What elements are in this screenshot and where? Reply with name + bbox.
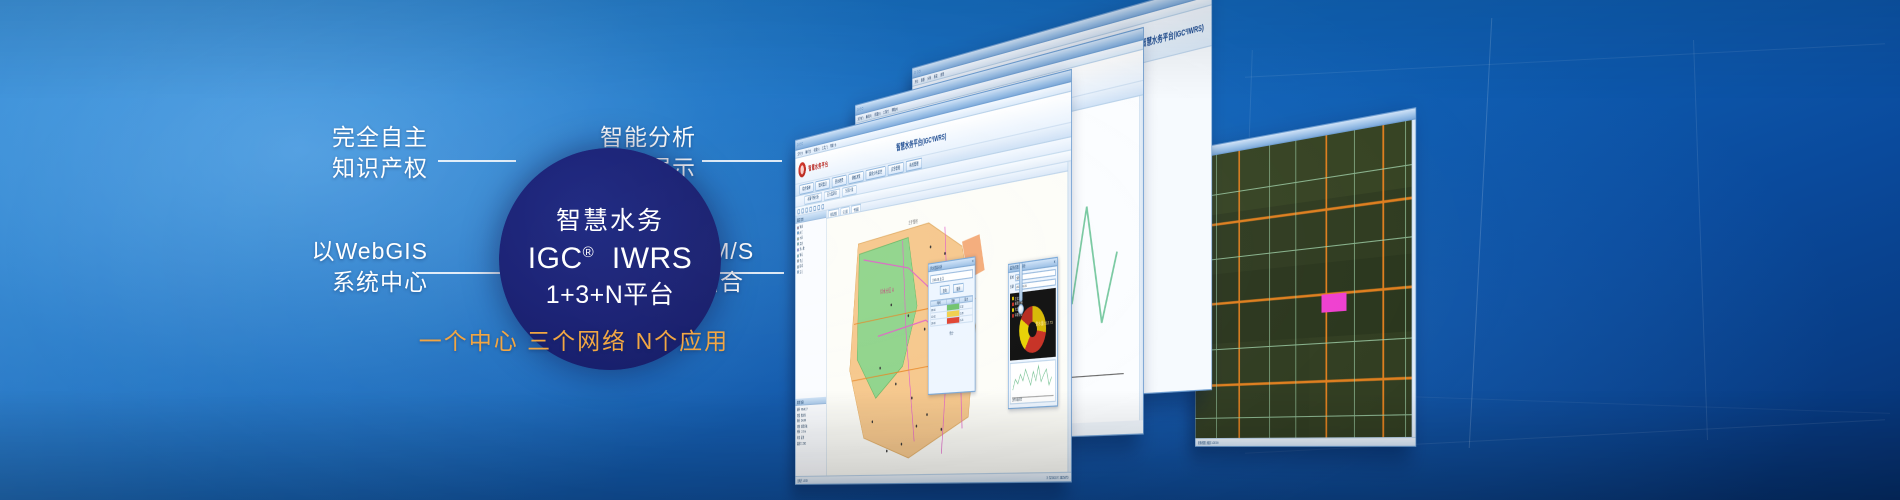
connector-line-top-left — [438, 160, 516, 162]
app-title: 智慧水务平台(IGC²IWRS) — [896, 130, 946, 154]
date-label: 日期 — [1010, 284, 1014, 291]
satellite-imagery — [1196, 119, 1416, 438]
measure-tool-icon[interactable] — [813, 205, 816, 211]
app-title: 智慧水务平台(IGC²IWRS) — [1141, 21, 1204, 50]
workspace: 图层控制 管线 阀门 水表 泵站 消火栓 管段 节点 区域 注记 属性信息 — [795, 161, 1071, 476]
cancel-button[interactable]: 取消 — [953, 283, 963, 293]
registered-mark-icon: ® — [583, 244, 595, 261]
dialog-title: 供水流量分析 — [930, 263, 942, 270]
feature-row1: 以WebGIS — [288, 236, 428, 267]
region-select-label: 区域 — [1010, 274, 1014, 281]
vertical-scrollbar[interactable] — [1139, 95, 1143, 420]
feature-label-top-left: 完全自主 知识产权 — [308, 122, 428, 183]
banner-tagline: 一个中心 三个网络 N个应用 — [364, 322, 784, 356]
menu-item-edit[interactable]: 编辑(E) — [805, 148, 811, 154]
monitoring-chart-dialog[interactable]: 监测点数据分析 ✕ 区域 全部 日期 2017-06-15 — [1008, 256, 1058, 409]
menu-item[interactable]: 文件(F) — [858, 115, 864, 122]
feature-row2: 系统中心 — [288, 267, 428, 298]
satellite-map-window: 影像底图 | 缩放 1:20000 — [1195, 107, 1416, 447]
hub-line-1: 智慧水务 — [556, 206, 664, 237]
identify-tool-icon[interactable] — [817, 204, 820, 210]
ribbon-tab[interactable]: 开始 — [915, 78, 919, 84]
pie-chart-panel: 正常流量 超限流量 欠压报警 停泵记录 供水量 512.73 — [1010, 288, 1056, 361]
select-tool-icon[interactable] — [809, 206, 812, 212]
zoom-out-tool-icon[interactable] — [805, 207, 807, 213]
close-icon[interactable]: ✕ — [1054, 259, 1056, 264]
hub-line-3: 1+3+N平台 — [546, 279, 675, 312]
status-text: 影像底图 | 缩放 1:20000 — [1198, 440, 1218, 445]
trend-chart-panel: 日供水量趋势 — [1010, 359, 1056, 404]
left-panel: 图层控制 管线 阀门 水表 泵站 消火栓 管段 节点 区域 注记 属性信息 — [795, 211, 826, 476]
hub-brand-igc: IGC — [528, 242, 583, 275]
flow-analysis-dialog[interactable]: 供水流量分析 ✕ DMA-01 出口 查询 取消 时间 — [928, 257, 975, 396]
status-bar: 影像底图 | 缩放 1:20000 — [1196, 437, 1416, 446]
dialog-footer: 统计 — [931, 328, 974, 338]
zoom-slider[interactable] — [1019, 261, 1022, 301]
print-tool-icon[interactable] — [822, 203, 825, 209]
flow-data-table: 时间 流量 压力 08:000.32 12:000.28 18:000.21 — [931, 295, 974, 327]
menu-item[interactable]: 工具(T) — [883, 108, 889, 115]
trend-chart-label: 日供水量趋势 — [1012, 397, 1022, 402]
window-controls-icon[interactable] — [857, 107, 863, 112]
vertical-scrollbar[interactable] — [1068, 161, 1072, 471]
marketing-banner: 完全自主 知识产权 以WebGIS 系统中心 智能分析 数据展示 C/S+B/S… — [0, 0, 1900, 500]
map-canvas[interactable]: 管网总图 分区图 专题图 — [827, 162, 1068, 476]
menu-item[interactable]: 编辑(E) — [866, 113, 872, 120]
main-app-window: 文件(F) 编辑(E) 视图(V) 工具(T) 帮助(H) 智慧水务平台 智慧水… — [795, 69, 1072, 485]
feature-row2: 知识产权 — [308, 153, 428, 184]
window-controls-icon[interactable] — [797, 142, 803, 147]
query-button[interactable]: 查询 — [940, 285, 950, 295]
pan-compass-icon[interactable] — [1018, 303, 1024, 314]
logo-text: 智慧水务平台 — [808, 159, 828, 173]
zoom-in-tool-icon[interactable] — [801, 208, 803, 214]
vertical-scrollbar[interactable] — [1412, 119, 1416, 436]
menu-item[interactable]: 帮助(H) — [892, 106, 898, 113]
feature-label-bottom-left: 以WebGIS 系统中心 — [288, 236, 428, 297]
status-coordinates: X: 523418 Y: 3825470 — [1046, 475, 1068, 480]
connector-line-top-right — [702, 160, 782, 162]
layer-tree[interactable]: 管线 阀门 水表 泵站 消火栓 管段 节点 区域 注记 — [795, 218, 826, 399]
ribbon-tab[interactable]: 设置 — [940, 71, 944, 77]
ribbon-tab[interactable]: 分析 — [927, 75, 931, 81]
map-navigation-widget[interactable] — [1018, 261, 1024, 314]
window-controls-icon[interactable] — [914, 70, 920, 75]
ribbon-tab[interactable]: 数据 — [921, 76, 925, 82]
hub-brand-iwrs: IWRS — [612, 242, 692, 275]
menu-item-tools[interactable]: 工具(T) — [822, 144, 828, 151]
dialog-body: DMA-01 出口 查询 取消 时间 流量 压力 — [929, 266, 975, 342]
company-logo-icon — [798, 161, 805, 178]
screenshot-stage: 影像底图 | 缩放 1:20000 开始 数据 分析 报表 设置 ▢ 新建 ▢ … — [950, 0, 1900, 500]
attribute-row: 建设年 2015 — [797, 440, 825, 447]
attribute-list: 编号 WS-0137 类型 供水管 管径 DN300 材质 球墨铸铁 埋深 1.… — [795, 404, 826, 476]
menu-item-view[interactable]: 视图(V) — [814, 146, 820, 152]
menu-item-help[interactable]: 帮助(H) — [830, 142, 836, 149]
close-icon[interactable]: ✕ — [972, 259, 974, 264]
menu-item[interactable]: 视图(V) — [874, 110, 880, 117]
menu-item-file[interactable]: 文件(F) — [797, 150, 803, 156]
status-scale: 比例尺 1:5000 — [797, 478, 807, 483]
pan-tool-icon[interactable] — [797, 208, 799, 214]
chart-value-label: 供水量 512.73 — [1036, 319, 1053, 328]
hub-line-2: IGC® IWRS — [528, 241, 692, 277]
ribbon-tab[interactable]: 报表 — [934, 73, 938, 79]
feature-row1: 完全自主 — [308, 122, 428, 153]
